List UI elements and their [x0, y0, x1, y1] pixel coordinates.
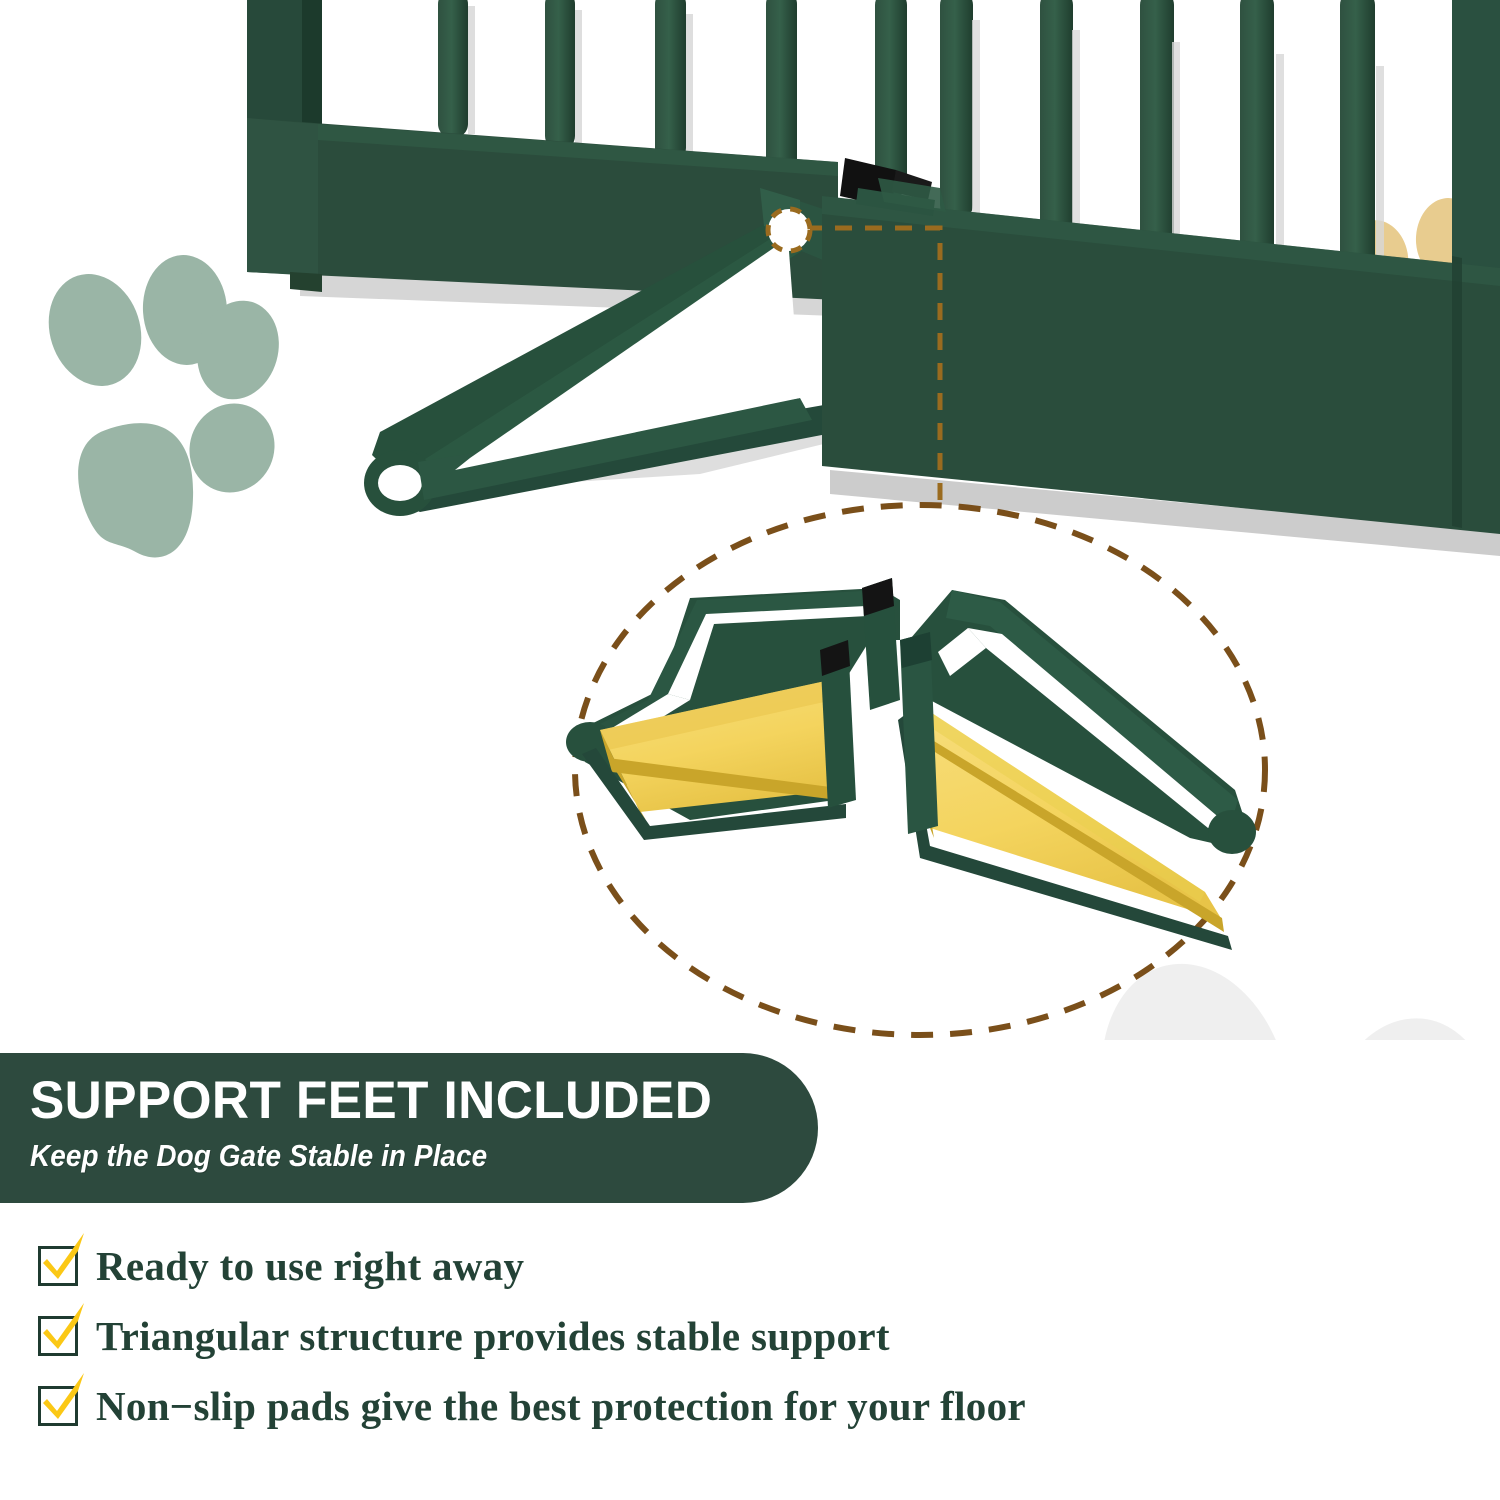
checkbox-checked-icon — [38, 1386, 78, 1426]
gate-right-panel — [822, 0, 1500, 556]
feature-item: Ready to use right away — [38, 1232, 1438, 1300]
feature-label: Non−slip pads give the best protection f… — [96, 1382, 1026, 1430]
banner-subtitle: Keep the Dog Gate Stable in Place — [30, 1138, 739, 1174]
product-illustration — [0, 0, 1500, 1040]
paw-print-gray-icon — [952, 944, 1500, 1040]
feature-item: Non−slip pads give the best protection f… — [38, 1372, 1438, 1440]
checkbox-checked-icon — [38, 1246, 78, 1286]
banner-title: SUPPORT FEET INCLUDED — [30, 1073, 794, 1128]
callout-origin-marker-icon — [768, 209, 810, 251]
paw-print-sage-icon — [35, 252, 291, 557]
feature-label: Ready to use right away — [96, 1242, 524, 1290]
support-feet-closeup — [566, 578, 1256, 950]
feature-item: Triangular structure provides stable sup… — [38, 1302, 1438, 1370]
feature-list: Ready to use right away Triangular struc… — [38, 1232, 1438, 1442]
feature-label: Triangular structure provides stable sup… — [96, 1312, 890, 1360]
feature-banner: SUPPORT FEET INCLUDED Keep the Dog Gate … — [0, 1053, 818, 1203]
product-feature-image: SUPPORT FEET INCLUDED Keep the Dog Gate … — [0, 0, 1500, 1500]
checkbox-checked-icon — [38, 1316, 78, 1356]
